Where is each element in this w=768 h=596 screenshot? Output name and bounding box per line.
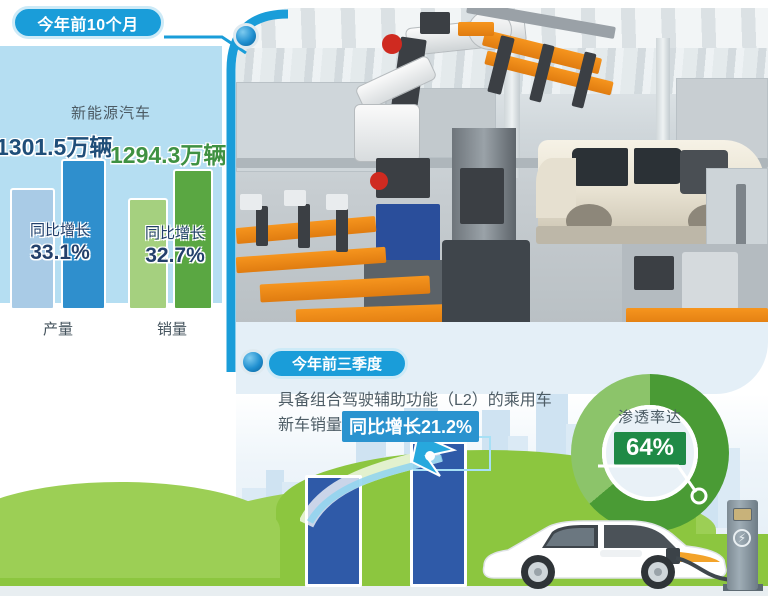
charging-bolt-icon: ⚡ (733, 529, 751, 547)
section2-highlight: 同比增长21.2% (342, 411, 479, 442)
sales-growth-value: 32.7% (120, 244, 230, 268)
axis-label-sales: 销量 (122, 318, 222, 339)
donut-pointer-line (596, 448, 716, 514)
axis-label-production: 产量 (8, 318, 108, 339)
electric-car-illustration (480, 508, 730, 590)
scene-road-left (0, 586, 240, 596)
production-growth: 同比增长 33.1% (0, 221, 120, 265)
production-growth-label: 同比增长 (0, 221, 120, 241)
production-growth-value: 33.1% (0, 241, 120, 265)
section1-panel: 新能源汽车 1301.5万辆 1294.3万辆 同比增长 33.1% 同比增长 … (0, 46, 222, 303)
section2-line1: 具备组合驾驶辅助功能（L2）的乘用车 (278, 386, 552, 410)
sales-growth: 同比增长 32.7% (120, 224, 230, 268)
infographic-canvas: 新能源汽车 1301.5万辆 1294.3万辆 同比增长 33.1% 同比增长 … (0, 0, 768, 596)
factory-photo (236, 8, 768, 326)
section1-badge: 今年前10个月 (12, 6, 164, 39)
production-value: 1301.5万辆 (0, 128, 112, 162)
connector-dot-bottom-icon (240, 349, 266, 375)
connector-dot-top-icon (233, 23, 259, 49)
donut-caption: 渗透率达 (571, 406, 729, 427)
sales-value: 1294.3万辆 (110, 136, 226, 170)
section2-badge: 今年前三季度 (266, 348, 408, 379)
section2-line2: 新车销量同比增长21.2% (278, 411, 479, 442)
sales-growth-label: 同比增长 (120, 224, 230, 244)
charging-station-screen (733, 508, 752, 521)
section1-subtitle: 新能源汽车 (0, 102, 222, 123)
section2-line2-prefix: 新车销量 (278, 417, 342, 434)
